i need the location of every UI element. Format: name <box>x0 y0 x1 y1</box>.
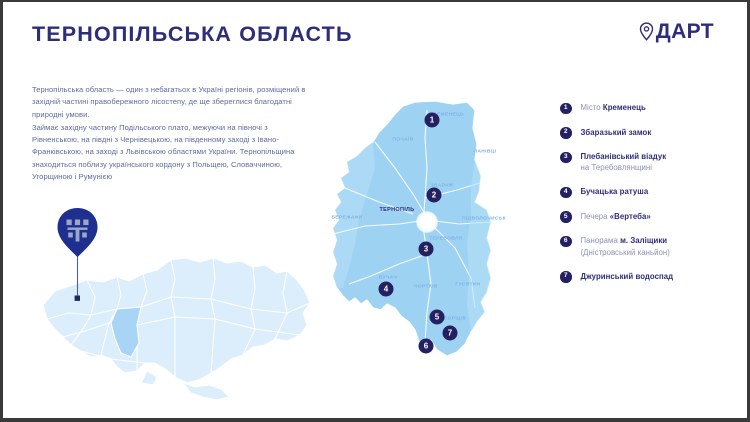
map-label-city: БОРЩІВ <box>444 317 467 322</box>
legend-item-label: Панорама м. Заліщики(Дністровський каньй… <box>581 235 670 258</box>
legend-item-name: Джуринський водоспад <box>581 272 674 281</box>
legend-item-label: Збаразький замок <box>581 127 652 138</box>
brand-logo: ДАРТ <box>639 21 714 42</box>
legend-item-subtitle: (Дністровський каньйон) <box>581 247 670 258</box>
legend-item-label: Печера «Вертеба» <box>581 211 651 222</box>
legend-item[interactable]: 3Плебанівський віадукна Теребовлянщині <box>560 151 740 174</box>
description-paragraph-2: Займає західну частину Подільського плат… <box>32 122 310 183</box>
map-label-city: ГУСЯТИН <box>455 283 480 288</box>
page-title: ТЕРНОПІЛЬСЬКА ОБЛАСТЬ <box>32 22 353 47</box>
map-label-city: ЧОРТКІВ <box>414 285 438 290</box>
map-marker-2[interactable]: 2 <box>427 188 442 203</box>
legend-item[interactable]: 4Бучацька ратуша <box>560 186 740 198</box>
map-label-ternopil: ТЕРНОПІЛЬ <box>380 207 415 213</box>
legend-item-number: 1 <box>560 103 572 115</box>
map-label-city: БЕРЕЖАНИ <box>331 216 362 221</box>
map-label-city: ЛАНІВЦІ <box>474 150 497 155</box>
legend-item[interactable]: 7Джуринський водоспад <box>560 271 740 283</box>
legend-item-name: Плебанівський віадук <box>581 152 667 161</box>
legend-item-name: м. Заліщики <box>620 236 667 245</box>
legend-item-label: Плебанівський віадукна Теребовлянщині <box>581 151 667 174</box>
capital-city-dot <box>416 211 438 233</box>
legend-item-number: 2 <box>560 127 572 139</box>
legend-item-label: Бучацька ратуша <box>581 186 649 197</box>
legend-item-number: 6 <box>560 236 572 248</box>
legend-item[interactable]: 6Панорама м. Заліщики(Дністровський кань… <box>560 235 740 258</box>
map-marker-3[interactable]: 3 <box>419 242 434 257</box>
legend-item-number: 5 <box>560 211 572 223</box>
description-block: Тернопільська область — один з небагатьо… <box>32 84 310 183</box>
legend-item-prefix: Панорама <box>581 236 621 245</box>
map-marker-5[interactable]: 5 <box>430 310 445 325</box>
legend-item-prefix: Печера <box>581 212 610 221</box>
legend-item-subtitle: на Теребовлянщині <box>581 162 667 173</box>
map-marker-4[interactable]: 4 <box>379 282 394 297</box>
slide-screenshot: ТЕРНОПІЛЬСЬКА ОБЛАСТЬ ДАРТ Тернопільська… <box>0 0 750 422</box>
legend-item-name: Кременець <box>603 103 646 112</box>
map-marker-7[interactable]: 7 <box>443 326 458 341</box>
legend-item[interactable]: 1Місто Кременець <box>560 102 740 114</box>
legend-item-number: 4 <box>560 187 572 199</box>
slide-page: ТЕРНОПІЛЬСЬКА ОБЛАСТЬ ДАРТ Тернопільська… <box>3 2 747 418</box>
legend-item-prefix: Місто <box>581 103 603 112</box>
legend-item-name: Бучацька ратуша <box>581 187 649 196</box>
legend-item-number: 7 <box>560 271 572 283</box>
legend-item-name: «Вертеба» <box>610 212 651 221</box>
legend-item-name: Збаразький замок <box>581 128 652 137</box>
legend-item-number: 3 <box>560 152 572 164</box>
map-label-city: ТЕРЕБОВЛЯ <box>429 237 463 242</box>
attractions-legend: 1Місто Кременець2Збаразький замок3Плебан… <box>560 102 740 295</box>
map-label-city: БУЧАЧ <box>379 276 397 281</box>
map-label-city: ПОЧАЇВ <box>392 138 413 143</box>
brand-name: ДАРТ <box>656 21 714 42</box>
location-pin-icon <box>639 22 654 41</box>
legend-item-label: Місто Кременець <box>581 102 646 113</box>
ternopil-oblast-map: ТЕРНОПІЛЬ КРЕМЕНЕЦЬПОЧАЇВЛАНІВЦІЗБАРАЖПІ… <box>315 98 539 360</box>
castle-pin-icon <box>56 206 99 303</box>
description-paragraph-1: Тернопільська область — один з небагатьо… <box>32 84 310 121</box>
map-label-city: ПІДВОЛОЧИСЬК <box>462 217 506 222</box>
location-pin-icon-svg <box>639 22 654 41</box>
legend-item[interactable]: 2Збаразький замок <box>560 127 740 139</box>
map-marker-6[interactable]: 6 <box>419 339 434 354</box>
legend-item-label: Джуринський водоспад <box>581 271 674 282</box>
map-marker-1[interactable]: 1 <box>425 113 440 128</box>
legend-item[interactable]: 5Печера «Вертеба» <box>560 211 740 223</box>
